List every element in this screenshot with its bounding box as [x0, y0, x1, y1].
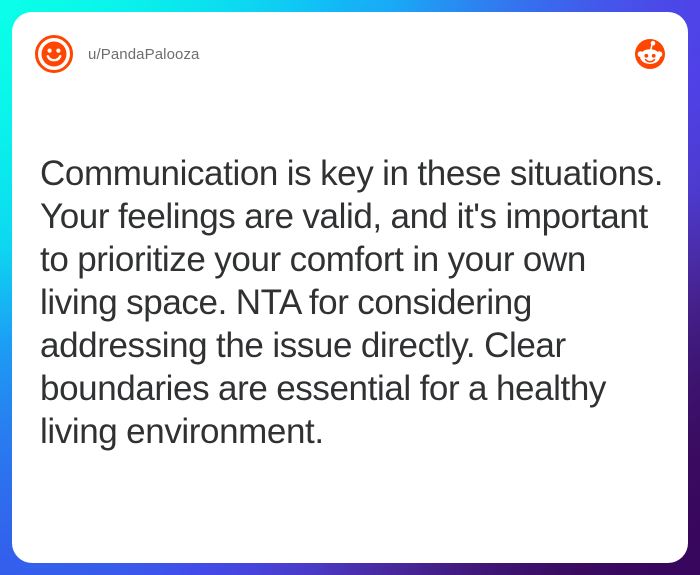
username-label: u/PandaPalooza [88, 46, 200, 63]
smiley-face-icon[interactable] [34, 34, 74, 74]
comment-text: Communication is key in these situations… [40, 152, 666, 453]
gradient-background: u/PandaPalooza Communication is key in t… [0, 0, 700, 575]
card-header: u/PandaPalooza [12, 12, 688, 96]
reddit-snoo-icon[interactable] [634, 38, 666, 70]
comment-card: u/PandaPalooza Communication is key in t… [12, 12, 688, 563]
